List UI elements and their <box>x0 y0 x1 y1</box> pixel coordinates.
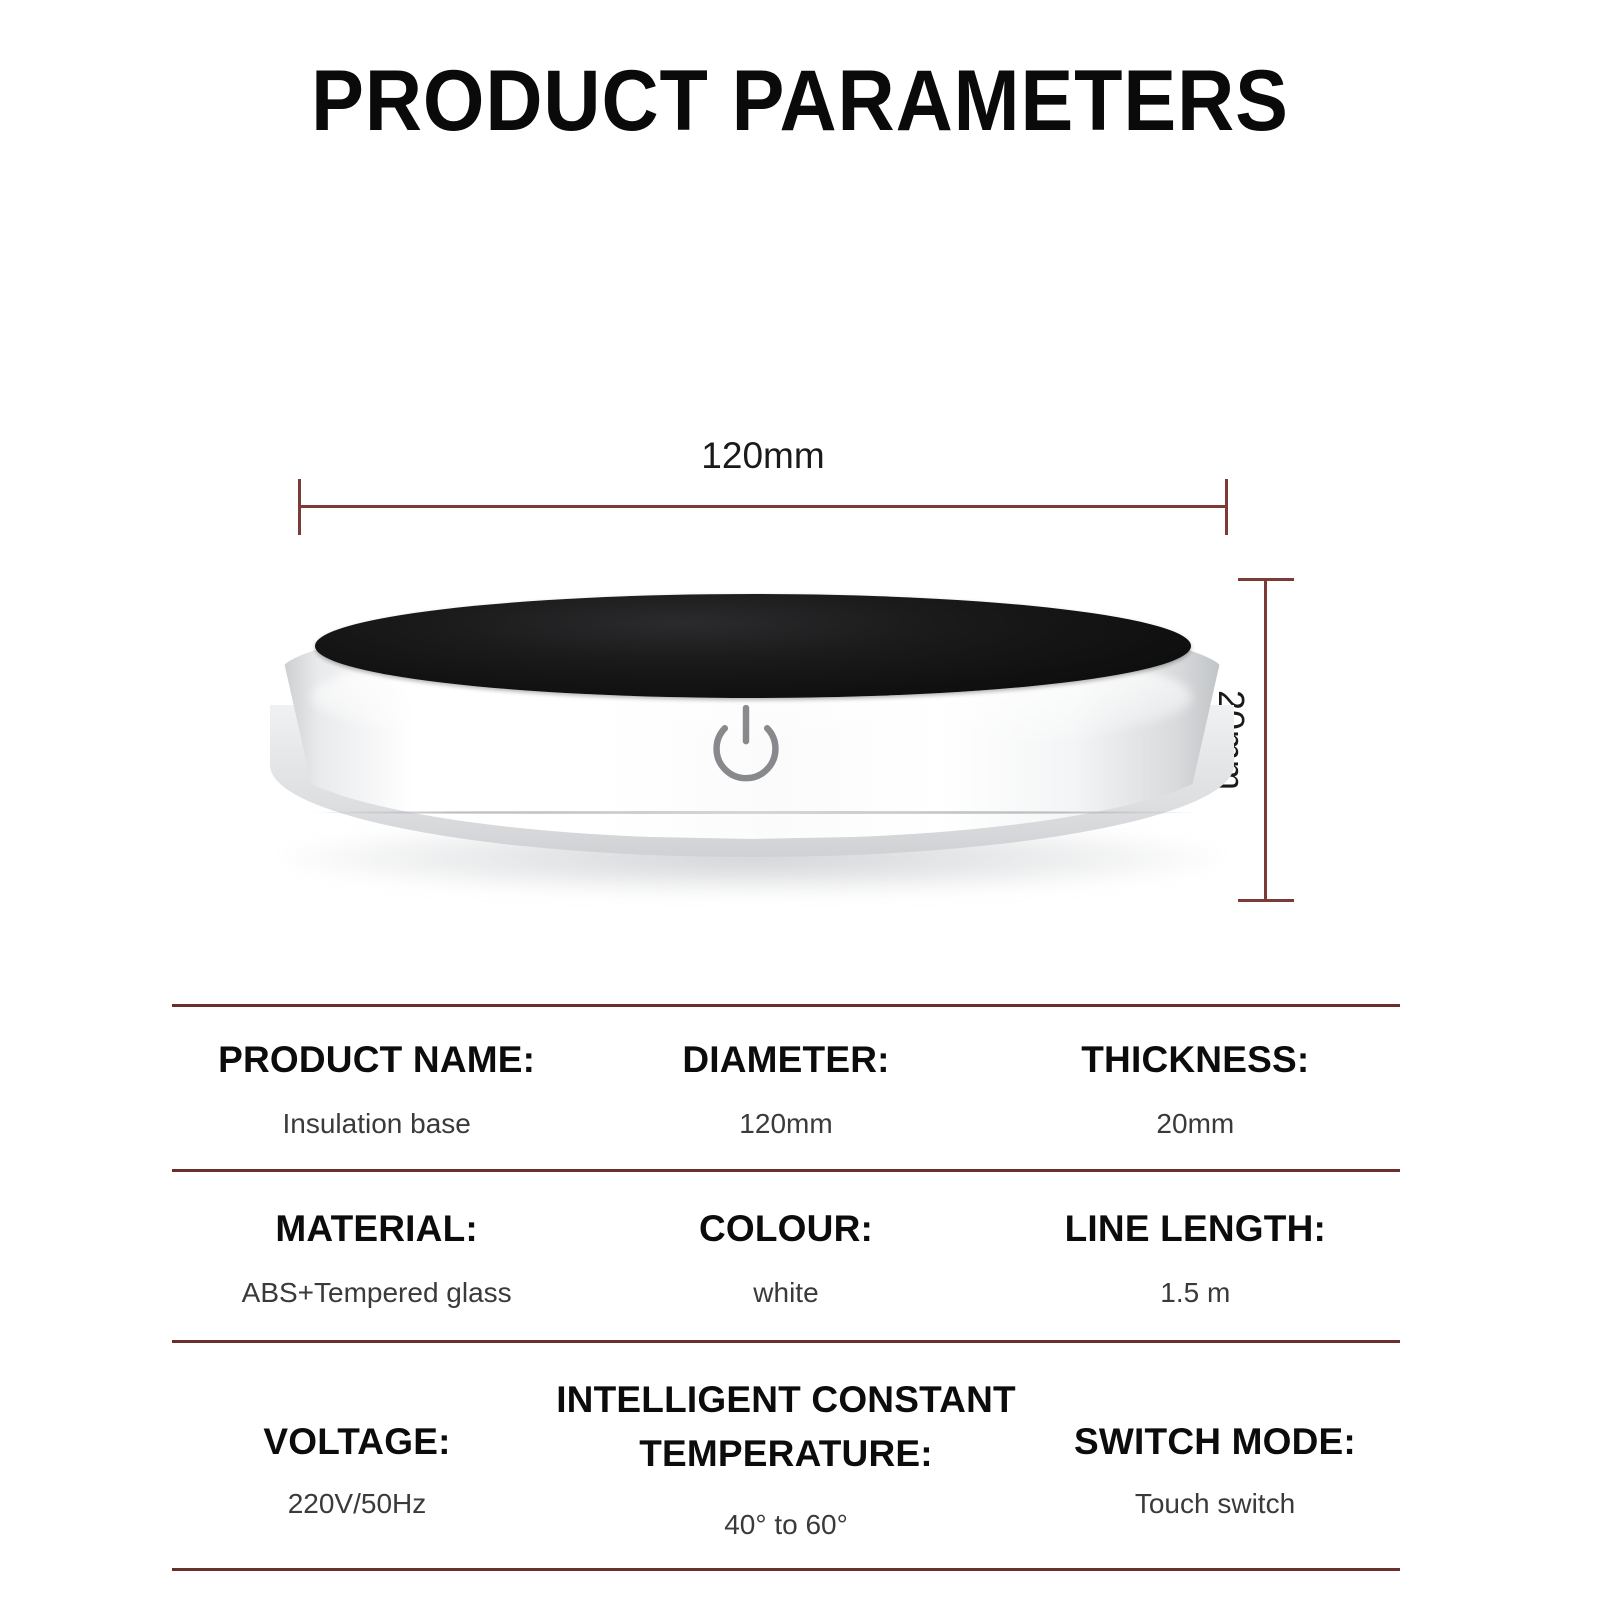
spec-cell-material: MATERIAL: ABS+Tempered glass <box>172 1172 581 1340</box>
spec-value: 1.5 m <box>995 1275 1396 1310</box>
page-title: PRODUCT PARAMETERS <box>64 52 1536 151</box>
height-dimension-line <box>1264 579 1267 901</box>
table-rule-bottom <box>172 1568 1400 1571</box>
spec-cell-line-length: LINE LENGTH: 1.5 m <box>991 1172 1400 1340</box>
spec-key-line-2: TEMPERATURE: <box>546 1427 1026 1481</box>
spec-value: ABS+Tempered glass <box>176 1275 577 1310</box>
spec-key: COLOUR: <box>585 1206 986 1251</box>
spec-cell-colour: COLOUR: white <box>581 1172 990 1340</box>
spec-value: 20mm <box>995 1106 1396 1141</box>
width-dimension-tick-left <box>298 479 301 535</box>
width-dimension-tick-right <box>1225 479 1228 535</box>
spec-key: INTELLIGENT CONSTANT TEMPERATURE: <box>546 1373 1026 1480</box>
height-dimension-tick-top <box>1238 578 1294 581</box>
spec-value: Insulation base <box>176 1106 577 1141</box>
spec-value: Touch switch <box>1034 1486 1396 1521</box>
table-row: VOLTAGE: 220V/50Hz INTELLIGENT CONSTANT … <box>172 1343 1400 1567</box>
product-seam-line <box>304 811 1204 814</box>
product-glass-top <box>315 594 1191 698</box>
spec-key: LINE LENGTH: <box>995 1206 1396 1251</box>
product-illustration: 120mm 20mm <box>0 200 1600 960</box>
spec-value: 40° to 60° <box>546 1507 1026 1542</box>
spec-cell-temperature: INTELLIGENT CONSTANT TEMPERATURE: 40° to… <box>542 1343 1030 1567</box>
spec-cell-voltage: VOLTAGE: 220V/50Hz <box>172 1343 542 1567</box>
table-row: MATERIAL: ABS+Tempered glass COLOUR: whi… <box>172 1172 1400 1340</box>
spec-key: SWITCH MODE: <box>1034 1419 1396 1464</box>
power-icon <box>700 697 792 789</box>
product-image <box>252 585 1252 905</box>
table-row: PRODUCT NAME: Insulation base DIAMETER: … <box>172 1007 1400 1169</box>
spec-key-line-1: INTELLIGENT CONSTANT <box>546 1373 1026 1427</box>
specification-table: PRODUCT NAME: Insulation base DIAMETER: … <box>172 1004 1400 1571</box>
spec-key: VOLTAGE: <box>176 1419 538 1464</box>
spec-key: MATERIAL: <box>176 1206 577 1251</box>
spec-value: 120mm <box>585 1106 986 1141</box>
spec-key: DIAMETER: <box>585 1037 986 1082</box>
spec-cell-diameter: DIAMETER: 120mm <box>581 1007 990 1169</box>
width-dimension-line <box>298 505 1228 508</box>
spec-cell-switch-mode: SWITCH MODE: Touch switch <box>1030 1343 1400 1567</box>
spec-key: THICKNESS: <box>995 1037 1396 1082</box>
spec-key: PRODUCT NAME: <box>176 1037 577 1082</box>
width-dimension-label: 120mm <box>298 435 1228 477</box>
spec-cell-product-name: PRODUCT NAME: Insulation base <box>172 1007 581 1169</box>
spec-value: white <box>585 1275 986 1310</box>
spec-value: 220V/50Hz <box>176 1486 538 1521</box>
spec-cell-thickness: THICKNESS: 20mm <box>991 1007 1400 1169</box>
